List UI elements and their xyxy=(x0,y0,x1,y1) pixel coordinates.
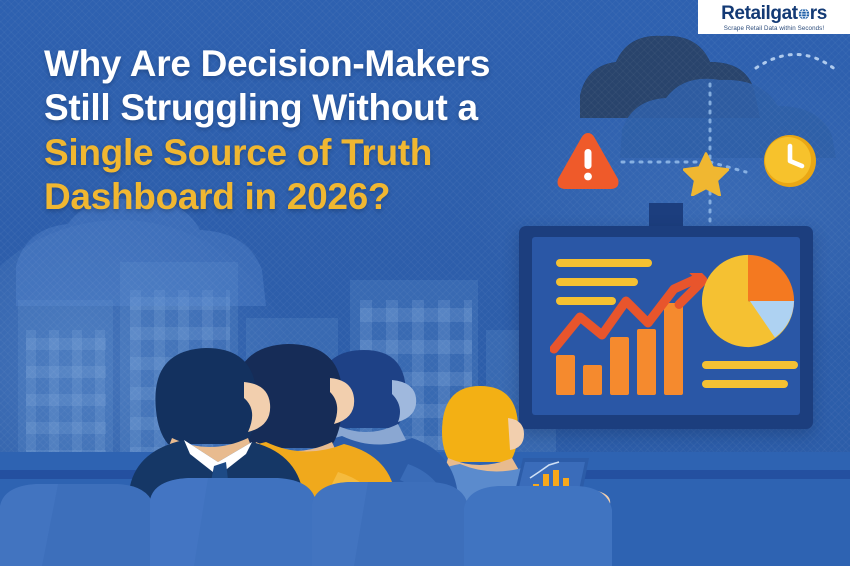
seat-row xyxy=(0,452,620,566)
blog-banner: Retailgat rs Scrape Retail Data within S… xyxy=(0,0,850,566)
headline-line-3: Single Source of Truth xyxy=(44,131,584,175)
text-bar-1 xyxy=(556,259,652,267)
trend-arrow-icon xyxy=(550,273,710,355)
headline-line-2: Still Struggling Without a xyxy=(44,86,584,130)
warning-triangle-icon xyxy=(555,131,621,191)
globe-icon xyxy=(798,8,810,20)
text-bar-5 xyxy=(702,380,788,388)
brand-logo[interactable]: Retailgat rs Scrape Retail Data within S… xyxy=(698,0,850,34)
logo-tagline: Scrape Retail Data within Seconds! xyxy=(724,25,824,32)
clock-icon xyxy=(762,133,818,189)
star-icon xyxy=(683,152,729,196)
logo-word-part-1: Retailgat xyxy=(721,4,798,23)
page-title: Why Are Decision-Makers Still Struggling… xyxy=(44,42,584,220)
headline-line-4: Dashboard in 2026? xyxy=(44,175,584,219)
text-bar-4 xyxy=(702,361,798,369)
logo-wordmark: Retailgat rs xyxy=(721,4,827,23)
logo-word-part-2: rs xyxy=(810,4,827,23)
headline-line-1: Why Are Decision-Makers xyxy=(44,42,584,86)
pie-chart xyxy=(700,253,796,349)
